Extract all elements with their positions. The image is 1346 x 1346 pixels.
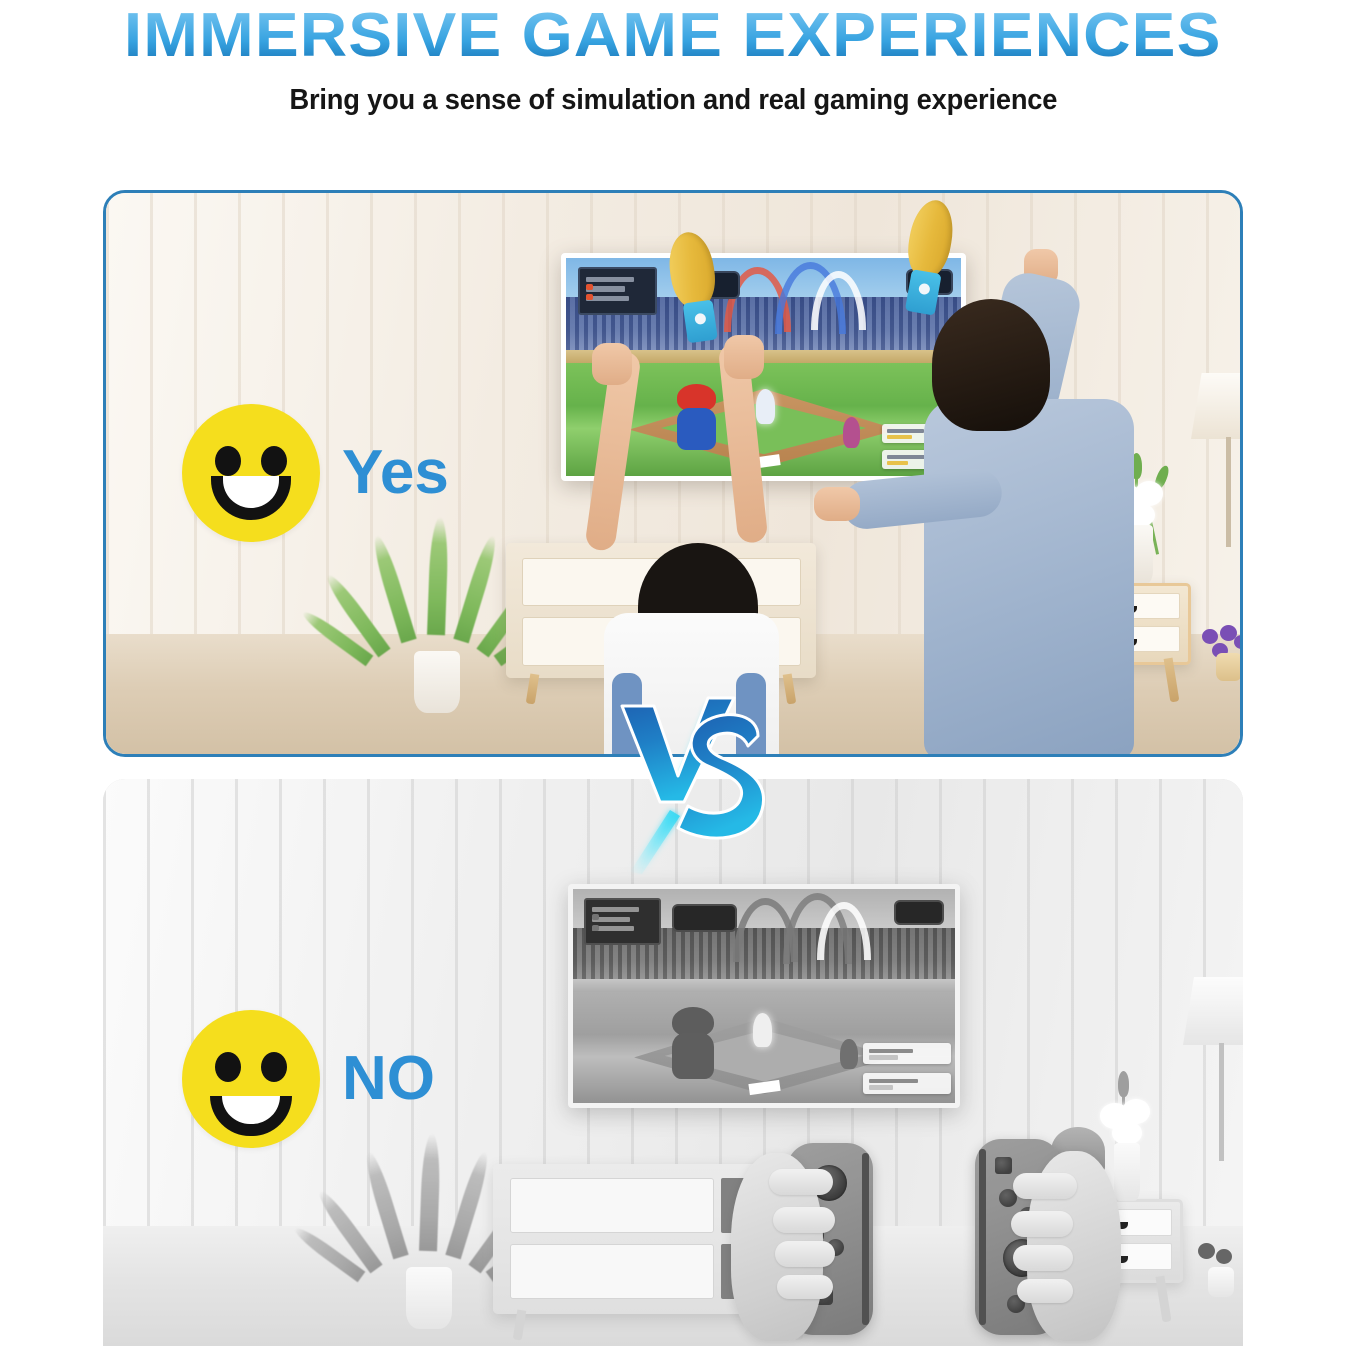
vs-divider-logo — [612, 690, 782, 875]
eye-left — [215, 446, 241, 476]
eye-right — [261, 446, 287, 476]
hands-with-joycons — [723, 1129, 1143, 1346]
verdict-badge-yes: Yes — [182, 404, 449, 542]
vs-letter-v — [622, 698, 734, 802]
mouth-frown — [210, 1096, 292, 1136]
fern-plant-left — [361, 523, 511, 723]
eye-left — [215, 1052, 241, 1082]
eye-right — [261, 1052, 287, 1082]
verdict-label-yes: Yes — [342, 442, 449, 504]
smiling-face-icon — [182, 404, 320, 542]
violet-flowers — [1188, 1241, 1243, 1295]
mouth-smile — [211, 476, 291, 520]
header: IMMERSIVE GAME EXPERIENCES Bring you a s… — [0, 0, 1346, 117]
page-title: IMMERSIVE GAME EXPERIENCES — [124, 2, 1222, 70]
floor-lamp-stem — [1219, 1043, 1224, 1161]
verdict-badge-no: NO — [182, 1010, 435, 1148]
floor-lamp-stem — [1226, 437, 1231, 547]
television — [568, 884, 960, 1108]
violet-flowers — [1196, 625, 1243, 679]
page-subtitle: Bring you a sense of simulation and real… — [289, 84, 1057, 117]
bat-accessory-left — [653, 226, 749, 356]
tv-screen-game — [573, 889, 955, 1103]
verdict-label-no: NO — [342, 1048, 435, 1110]
frowning-face-icon — [182, 1010, 320, 1148]
fern-plant-left — [353, 1139, 503, 1339]
